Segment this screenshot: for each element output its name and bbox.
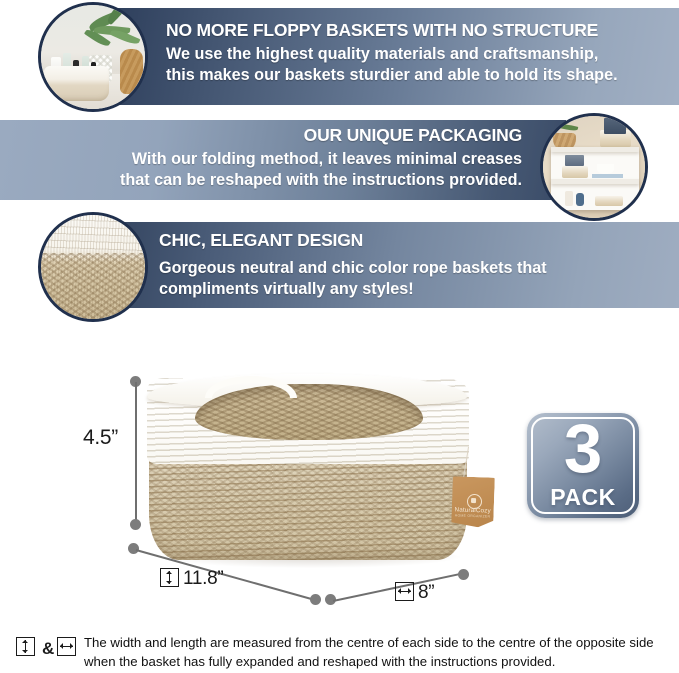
photo-scene: [41, 215, 145, 319]
dim-line-height: [135, 382, 137, 524]
banner-heading: OUR UNIQUE PACKAGING: [120, 126, 522, 144]
horizontal-arrow-icon: [57, 637, 76, 656]
rope-basket-image: [143, 372, 473, 564]
banner-heading: CHIC, ELEGANT DESIGN: [159, 231, 547, 249]
product-infographic: NO MORE FLOPPY BASKETS WITH NO STRUCTURE…: [0, 0, 679, 673]
vertical-arrow-icon: [16, 637, 35, 656]
photo-scene: [543, 116, 645, 218]
photo-scene: [41, 5, 145, 109]
pack-count-badge: 3 PACK: [527, 413, 639, 518]
pack-count-number: 3: [527, 414, 639, 483]
feature-photo-rope-texture: [38, 212, 148, 322]
feature-photo-bathroom-basket: [38, 2, 148, 112]
banner-text-block: NO MORE FLOPPY BASKETS WITH NO STRUCTURE…: [166, 21, 618, 86]
dim-dot-height-bottom: [130, 519, 141, 530]
dimension-height-label: 4.5”: [83, 426, 118, 450]
disclaimer-line-2: when the basket has fully expanded and r…: [84, 654, 555, 669]
banner-line-2: that can be reshaped with the instructio…: [120, 170, 522, 190]
feature-banner-chic-design: CHIC, ELEGANT DESIGN Gorgeous neutral an…: [108, 222, 679, 308]
banner-line-2: compliments virtually any styles!: [159, 279, 547, 299]
horizontal-arrow-icon: [395, 582, 414, 601]
banner-text-block: OUR UNIQUE PACKAGING With our folding me…: [120, 126, 522, 191]
dim-dot-width-end: [458, 569, 469, 580]
ampersand: &: [42, 639, 54, 659]
measurement-disclaimer: & The width and length are measured from…: [0, 628, 679, 673]
dimension-length-label: 11.8”: [160, 568, 223, 590]
dimension-width-label: 8”: [395, 582, 434, 604]
banner-line-2: this makes our baskets sturdier and able…: [166, 65, 618, 85]
banner-heading: NO MORE FLOPPY BASKETS WITH NO STRUCTURE: [166, 21, 618, 39]
banner-line-1: We use the highest quality materials and…: [166, 44, 618, 64]
banner-line-1: With our folding method, it leaves minim…: [120, 149, 522, 169]
vertical-arrow-icon: [160, 568, 179, 587]
brand-hang-tag: NaturalCozy HOME ORGANIZER: [451, 476, 495, 527]
banner-line-1: Gorgeous neutral and chic color rope bas…: [159, 258, 547, 278]
brand-tagline: HOME ORGANIZER: [451, 513, 493, 518]
footer-icon-group: &: [16, 637, 80, 659]
feature-banner-unique-packaging: OUR UNIQUE PACKAGING With our folding me…: [0, 120, 566, 200]
pack-count-label: PACK: [527, 484, 639, 511]
disclaimer-text: The width and length are measured from t…: [84, 634, 668, 671]
feature-photo-shelf-baskets: [540, 113, 648, 221]
banner-text-block: CHIC, ELEGANT DESIGN Gorgeous neutral an…: [159, 231, 547, 300]
disclaimer-line-1: The width and length are measured from t…: [84, 635, 654, 650]
dim-dot-length-end: [310, 594, 321, 605]
plant-graphic: [83, 2, 148, 57]
feature-banner-no-structure: NO MORE FLOPPY BASKETS WITH NO STRUCTURE…: [113, 8, 679, 105]
